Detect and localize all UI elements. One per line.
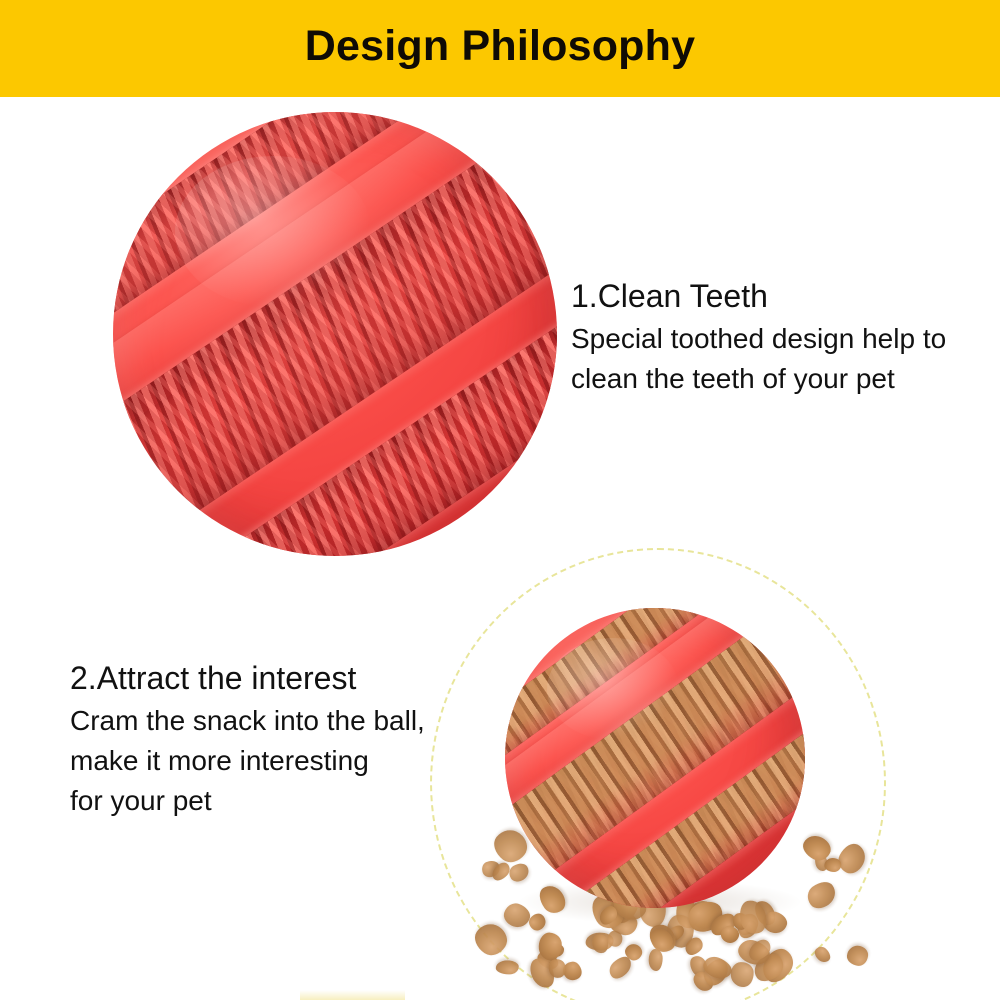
feature-clean-teeth-line-2: clean the teeth of your pet	[571, 359, 946, 399]
next-section-sliver	[300, 990, 405, 1000]
feature-attract-interest: 2.Attract the interest Cram the snack in…	[70, 660, 425, 820]
kibble-piece	[812, 944, 833, 965]
ball-with-treats-image	[505, 608, 805, 908]
feature-attract-interest-title: 2.Attract the interest	[70, 660, 425, 697]
kibble-piece	[496, 960, 519, 974]
kibble-piece	[824, 858, 841, 872]
kibble-piece	[803, 877, 841, 913]
feature-clean-teeth-line-1: Special toothed design help to	[571, 319, 946, 359]
kibble-piece	[834, 840, 870, 878]
kibble-piece	[469, 917, 512, 960]
kibble-piece	[730, 961, 754, 987]
feature-attract-interest-body: Cram the snack into the ball, make it mo…	[70, 701, 425, 820]
feature-clean-teeth-title: 1.Clean Teeth	[571, 278, 946, 315]
design-philosophy-page: Design Philosophy 1.Clean Teeth Special …	[0, 0, 1000, 1000]
kibble-piece	[607, 930, 623, 947]
feature-attract-interest-line-2: make it more interesting	[70, 741, 425, 781]
feature-attract-interest-line-3: for your pet	[70, 781, 425, 821]
kibble-piece	[846, 945, 869, 967]
page-title: Design Philosophy	[305, 25, 695, 68]
header-banner: Design Philosophy	[0, 0, 1000, 97]
kibble-piece	[538, 932, 563, 961]
feature-clean-teeth-body: Special toothed design help to clean the…	[571, 319, 946, 399]
feature-attract-interest-line-1: Cram the snack into the ball,	[70, 701, 425, 741]
ball-primary-image	[113, 112, 557, 556]
red-dog-ball-filled	[505, 608, 805, 908]
feature-clean-teeth: 1.Clean Teeth Special toothed design hel…	[571, 278, 946, 399]
red-dog-ball	[113, 112, 557, 556]
